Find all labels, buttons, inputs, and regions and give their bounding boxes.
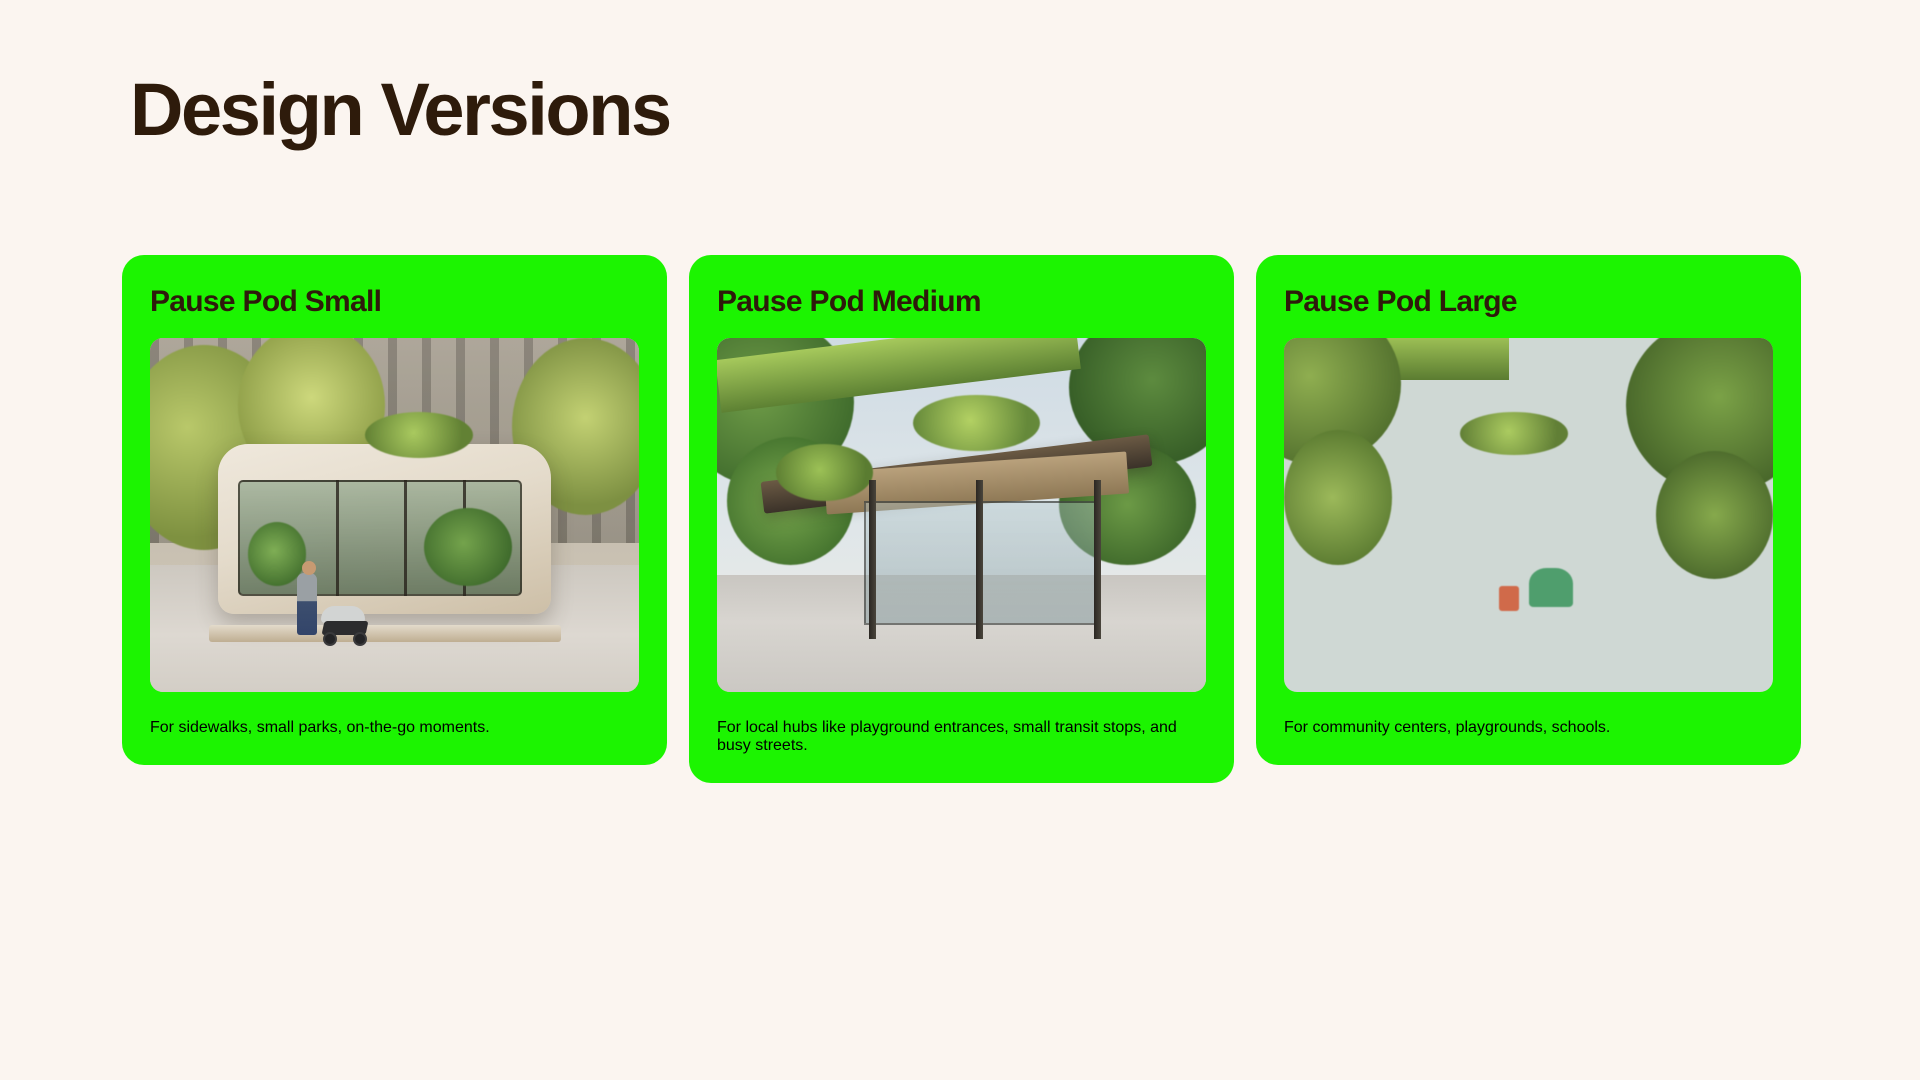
pause-pod-small-render [150, 338, 639, 692]
render-scene-small [150, 338, 639, 692]
pedestrian-figure [297, 573, 317, 635]
stroller [319, 606, 377, 646]
description-box-large: For community centers, playgrounds, scho… [1284, 719, 1773, 737]
card-title-small: Pause Pod Small [150, 285, 639, 319]
description-box-medium: For local hubs like playground entrances… [717, 719, 1206, 755]
design-version-card-small[interactable]: Pause Pod Small [122, 255, 667, 765]
green-roof-clump [1460, 412, 1568, 454]
design-version-card-large[interactable]: Pause Pod Large [1256, 255, 1801, 765]
card-title-medium: Pause Pod Medium [717, 285, 1206, 319]
render-scene-large [1284, 338, 1773, 692]
card-title-large: Pause Pod Large [1284, 285, 1773, 319]
pod-deck [209, 625, 561, 643]
description-text-medium: For local hubs like playground entrances… [717, 719, 1206, 755]
stroller-wheel [323, 632, 337, 646]
page-title: Design Versions [130, 72, 670, 147]
playground-equipment [1499, 586, 1519, 611]
design-version-card-medium[interactable]: Pause Pod Medium [689, 255, 1234, 783]
render-scene-medium [717, 338, 1206, 692]
pavilion-column [976, 480, 983, 639]
pause-pod-medium-render [717, 338, 1206, 692]
stroller-wheel [353, 632, 367, 646]
window-mullion [404, 480, 407, 597]
playground-equipment [1529, 568, 1573, 607]
tree-foliage [1284, 430, 1392, 565]
pavilion-column [869, 480, 876, 639]
description-text-small: For sidewalks, small parks, on-the-go mo… [150, 719, 639, 737]
green-roof-clump [913, 395, 1040, 452]
green-roof-clump [776, 444, 874, 501]
description-box-small: For sidewalks, small parks, on-the-go mo… [150, 719, 639, 737]
pavilion-column [1094, 480, 1101, 639]
interior-plants [424, 508, 512, 586]
green-roof-clump [365, 412, 473, 458]
window-mullion [336, 480, 339, 597]
description-text-large: For community centers, playgrounds, scho… [1284, 719, 1773, 737]
design-versions-page: Design Versions Pause Pod Small [0, 0, 1920, 1080]
wooden-bench [771, 596, 967, 614]
design-versions-card-row: Pause Pod Small [122, 255, 1802, 783]
pause-pod-large-render [1284, 338, 1773, 692]
tree-foliage [1656, 451, 1773, 578]
